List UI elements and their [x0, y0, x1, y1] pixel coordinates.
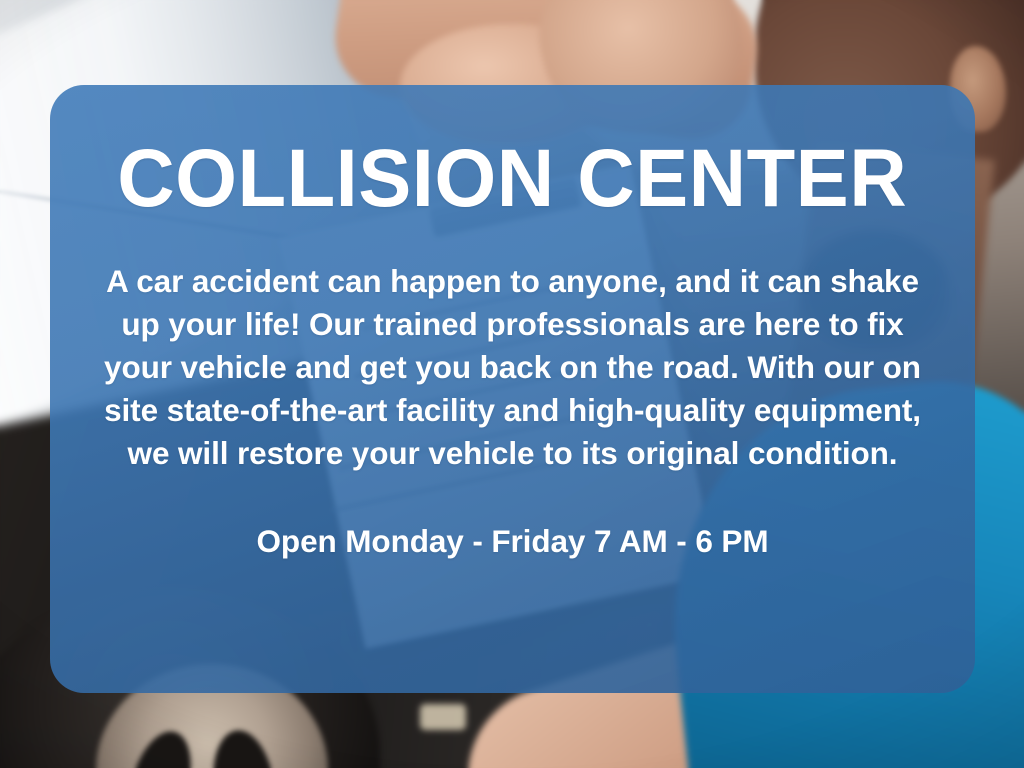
car-door-handle: [420, 704, 466, 730]
business-hours-text: Open Monday - Friday 7 AM - 6 PM: [257, 521, 769, 561]
info-card: COLLISION CENTER A car accident can happ…: [50, 85, 975, 693]
collision-center-poster: COLLISION CENTER A car accident can happ…: [0, 0, 1024, 768]
page-title: COLLISION CENTER: [118, 141, 908, 216]
description-text: A car accident can happen to anyone, and…: [98, 260, 928, 475]
